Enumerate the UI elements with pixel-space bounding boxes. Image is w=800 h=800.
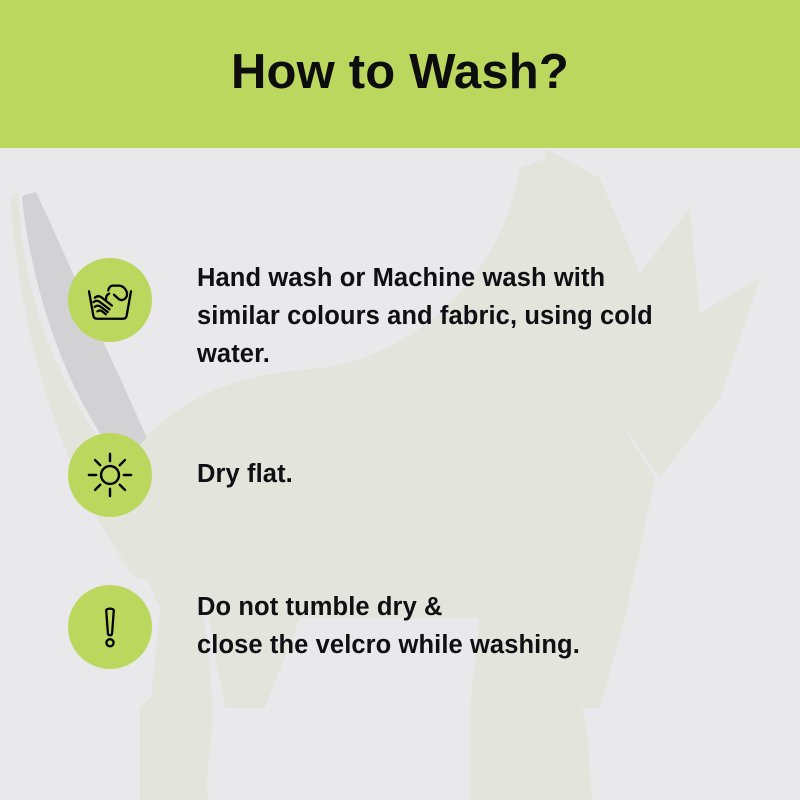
hand-wash-icon: [82, 272, 138, 328]
hand-wash-icon-badge: [68, 258, 152, 342]
sun-dry-flat-icon-badge: [68, 433, 152, 517]
instruction-row-dry-flat: Dry flat.: [68, 433, 293, 517]
instruction-row-warning: Do not tumble dry & close the velcro whi…: [68, 585, 580, 669]
page-title: How to Wash?: [231, 48, 569, 101]
header-band: How to Wash?: [0, 0, 800, 148]
care-instructions-card: How to Wash?: [0, 0, 800, 800]
sun-dry-flat-icon: [84, 449, 136, 501]
exclamation-warning-icon-badge: [68, 585, 152, 669]
instructions-list: Hand wash or Machine wash with similar c…: [0, 148, 800, 800]
exclamation-warning-icon: [84, 601, 136, 653]
instruction-text-warning: Do not tumble dry & close the velcro whi…: [197, 588, 580, 664]
instruction-text-dry-flat: Dry flat.: [197, 455, 293, 493]
instruction-text-hand-wash: Hand wash or Machine wash with similar c…: [197, 259, 653, 373]
instruction-row-hand-wash: Hand wash or Machine wash with similar c…: [68, 258, 653, 373]
